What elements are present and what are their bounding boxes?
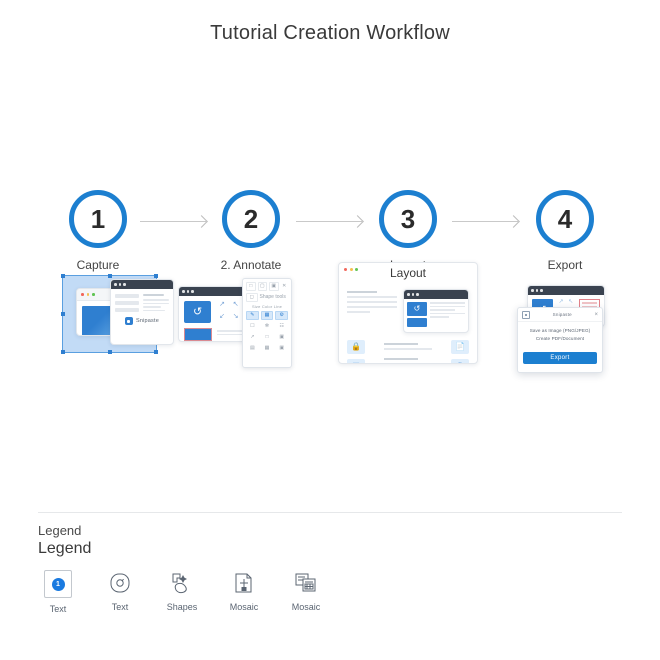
window-dot-icon — [531, 289, 534, 292]
step-label: Capture — [20, 258, 176, 272]
minimize-dot-icon — [350, 268, 353, 271]
legend-item-label: Text — [100, 602, 140, 612]
capture-illustration: Snipaste — [62, 275, 176, 360]
refresh-arrow-icon: ↺ — [407, 302, 427, 316]
content-bar — [430, 313, 465, 315]
nested-window-content: ↺ — [404, 299, 468, 332]
export-option-image[interactable]: Save as Image (PNG/JPEG) — [523, 328, 597, 333]
content-bar — [430, 306, 465, 308]
toolbar-option-label: Size Color Line — [246, 304, 288, 309]
legend-item-label: Shapes — [162, 602, 202, 612]
snipaste-brand-label: Snipaste — [136, 318, 159, 324]
tool-image-icon[interactable]: ▣ — [275, 333, 288, 342]
workflow-step-1[interactable]: 1 Capture — [20, 190, 176, 272]
window-titlebar — [528, 286, 604, 295]
toolbar-row: ☐ ✻ ☷ — [246, 322, 288, 331]
arrow-marker-icon: ↗ — [216, 301, 228, 311]
window-dot-icon — [123, 283, 126, 286]
toolbar-row: □ ▢ ▣ ✕ — [246, 282, 288, 291]
board-icon: ▣ — [347, 359, 365, 364]
annotation-toolbar[interactable]: □ ▢ ▣ ✕ ◻ Shape tools Size Color Line ✎ … — [242, 278, 292, 368]
content-bar — [347, 311, 370, 313]
resize-handle-icon — [154, 274, 158, 278]
dialog-title: Snipaste — [533, 312, 591, 317]
content-bar — [384, 348, 432, 350]
content-bar — [347, 306, 397, 308]
tool-copy-icon[interactable]: ▢ — [258, 282, 268, 291]
layout-illustration: Layout — [338, 262, 478, 364]
legend-heading-large: Legend — [38, 540, 622, 558]
shapes-icon — [169, 570, 195, 596]
resize-handle-icon — [108, 350, 112, 354]
window-dot-icon — [182, 290, 185, 293]
step-number-badge: 2 — [222, 190, 280, 248]
content-bar — [347, 296, 397, 298]
tool-pattern-icon[interactable]: ▦ — [261, 344, 274, 353]
tool-crop-icon[interactable]: ▣ — [275, 344, 288, 353]
step-number-badge: 3 — [379, 190, 437, 248]
legend-divider — [38, 512, 622, 513]
window-dot-icon — [416, 293, 419, 296]
image-thumbnail — [184, 328, 212, 341]
minimize-dot-icon — [87, 293, 90, 296]
workflow-step-2[interactable]: 2 2. Annotate ↺ ↗ ↖ ↙ ↘ — [173, 190, 329, 272]
blue-dot-glyph: 1 — [52, 578, 65, 591]
legend-item-label: Mosaic — [286, 602, 326, 612]
legend-item-label: Mosaic — [224, 602, 264, 612]
document-icon: 📄 — [451, 340, 469, 354]
close-dot-icon — [81, 293, 84, 296]
layout-column — [384, 340, 432, 364]
content-bar — [143, 303, 169, 305]
legend-item-list: 1 Text Text Shapes — [38, 570, 622, 614]
snipaste-window: Snipaste — [110, 279, 174, 345]
workflow-step-4[interactable]: 4 Export ↺ ↗ ↖ ↙ ↘ — [487, 190, 643, 272]
resize-handle-icon — [61, 274, 65, 278]
layout-column: 📄 ⚙ — [437, 340, 469, 364]
export-option-pdf[interactable]: Create PDF/Document — [523, 336, 597, 341]
resize-handle-icon — [61, 312, 65, 316]
layout-grid-row: 🔒 ▣ 📄 ⚙ — [347, 340, 469, 364]
annotate-illustration: ↺ ↗ ↖ ↙ ↘ — [178, 286, 328, 381]
tool-save-icon[interactable]: ▣ — [269, 282, 279, 291]
export-button[interactable]: Export — [523, 352, 597, 364]
snipaste-logo-icon — [125, 317, 133, 325]
content-block — [347, 289, 397, 333]
step-number-badge: 4 — [536, 190, 594, 248]
resize-handle-icon — [61, 350, 65, 354]
arrow-markers: ↗ ↖ ↙ ↘ — [216, 301, 241, 323]
dialog-titlebar: Snipaste × — [518, 308, 602, 322]
content-bar — [430, 302, 465, 304]
layout-hero-row: ↺ — [347, 289, 469, 333]
maximize-dot-icon — [92, 293, 95, 296]
refresh-arrow-icon: ↺ — [193, 307, 202, 318]
toolbar-row: ✎ ▦ ⚙ — [246, 311, 288, 320]
window-dot-icon — [191, 290, 194, 293]
content-bar — [143, 310, 165, 312]
content-bar — [143, 294, 164, 296]
resize-handle-icon — [154, 350, 158, 354]
legend-item-mosaic-layers[interactable]: Mosaic — [286, 570, 326, 614]
legend-item-text-pin[interactable]: 1 Text — [38, 570, 78, 614]
legend-heading-small: Legend — [38, 523, 622, 538]
content-block — [430, 302, 465, 329]
tool-arrow-icon[interactable]: ↗ — [246, 333, 259, 342]
snipaste-brand: Snipaste — [115, 317, 169, 325]
content-bar — [347, 301, 397, 303]
arrow-marker-icon: ↘ — [230, 313, 242, 323]
toolbar-row: ◻ Shape tools — [246, 293, 288, 302]
step-label: Export — [487, 258, 643, 272]
tool-blur-icon[interactable]: ▤ — [246, 344, 259, 353]
content-block — [115, 294, 139, 312]
layout-window-title: Layout — [339, 263, 477, 280]
nested-window: ↺ — [403, 289, 469, 333]
text-pin-icon: 1 — [44, 570, 72, 598]
settings-icon: ⚙ — [451, 359, 469, 364]
legend-item-mosaic-page[interactable]: Mosaic — [224, 570, 264, 614]
mosaic-page-icon — [231, 570, 257, 596]
legend-item-text-circle[interactable]: Text — [100, 570, 140, 614]
close-icon[interactable]: × — [594, 312, 598, 318]
content-bar — [384, 358, 418, 360]
content-bar — [582, 302, 597, 304]
content-bar — [115, 308, 139, 312]
content-bar — [143, 306, 161, 308]
mosaic-layers-icon — [293, 570, 319, 596]
text-circle-icon — [107, 570, 133, 596]
content-bar — [430, 309, 455, 311]
toolbar-row: ↗ □ ▣ — [246, 333, 288, 342]
toolbar-row: ▤ ▦ ▣ — [246, 344, 288, 353]
content-block — [143, 294, 169, 312]
tool-grid-icon[interactable]: ▦ — [261, 311, 274, 320]
legend-item-shapes[interactable]: Shapes — [162, 570, 202, 614]
export-illustration: ↺ ↗ ↖ ↙ ↘ Snipa — [517, 285, 637, 385]
workflow-diagram: 1 Capture — [0, 190, 660, 390]
tool-star-icon[interactable]: ✻ — [261, 322, 274, 331]
content-bar — [384, 363, 432, 365]
content-bar — [115, 294, 139, 298]
content-block: ↺ — [407, 302, 427, 329]
tool-rect-icon[interactable]: □ — [246, 282, 256, 291]
legend-section: Legend Legend 1 Text Text — [38, 523, 622, 614]
toolbar-close-icon[interactable]: ✕ — [281, 282, 289, 291]
arrow-marker-icon: ↖ — [230, 301, 242, 311]
window-dot-icon — [114, 283, 117, 286]
legend-item-label: Text — [38, 604, 78, 614]
window-dot-icon — [119, 283, 122, 286]
window-titlebar — [344, 268, 358, 271]
content-bar — [143, 299, 169, 301]
tool-pen-icon[interactable]: ✎ — [246, 311, 259, 320]
window-titlebar — [404, 290, 468, 299]
content-bar — [347, 291, 377, 293]
page-title: Tutorial Creation Workflow — [0, 22, 660, 45]
step-number-badge: 1 — [69, 190, 127, 248]
window-titlebar — [111, 280, 173, 289]
layout-column: 🔒 ▣ — [347, 340, 379, 364]
tool-mosaic-icon[interactable]: ☷ — [275, 322, 288, 331]
tool-settings-icon[interactable]: ⚙ — [275, 311, 288, 320]
arrow-marker-icon: ↙ — [216, 313, 228, 323]
content-bar — [115, 301, 139, 305]
close-dot-icon — [344, 268, 347, 271]
content-bar — [430, 316, 449, 318]
window-content: Snipaste — [111, 289, 173, 330]
window-dot-icon — [412, 293, 415, 296]
image-thumbnail: ↺ — [184, 301, 211, 323]
maximize-dot-icon — [355, 268, 358, 271]
content-row — [115, 294, 169, 312]
tool-page-icon[interactable]: ☐ — [246, 322, 259, 331]
snipaste-logo-icon — [522, 311, 530, 319]
tool-square-icon[interactable]: □ — [261, 333, 274, 342]
window-dot-icon — [187, 290, 190, 293]
window-dot-icon — [540, 289, 543, 292]
dialog-body: Save as Image (PNG/JPEG) Create PDF/Docu… — [518, 322, 602, 348]
layout-content: ↺ — [339, 280, 477, 364]
resize-handle-icon — [108, 274, 112, 278]
image-thumbnail — [407, 318, 427, 327]
window-dot-icon — [407, 293, 410, 296]
window-dot-icon — [536, 289, 539, 292]
lock-icon: 🔒 — [347, 340, 365, 354]
step-label: 2. Annotate — [173, 258, 329, 272]
tool-shape-icon[interactable]: ◻ — [246, 293, 258, 302]
workflow-step-3[interactable]: 3 Layout Layout — [330, 190, 486, 272]
export-dialog[interactable]: Snipaste × Save as Image (PNG/JPEG) Crea… — [517, 307, 603, 373]
content-bar — [384, 343, 418, 345]
toolbar-hint-label: Shape tools — [260, 293, 289, 302]
